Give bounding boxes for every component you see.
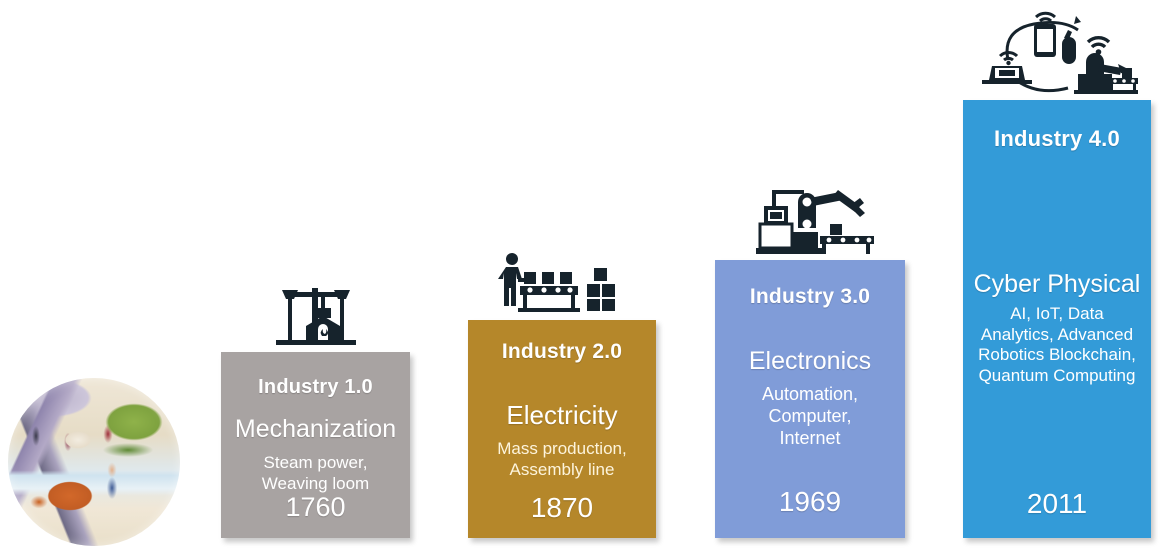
agrarian-village-illustration (8, 378, 180, 546)
stage-detail: AI, IoT, DataAnalytics, AdvancedRobotics… (978, 304, 1136, 387)
infographic-canvas: Industry 1.0 Mechanization Steam power,W… (0, 0, 1170, 550)
industry-stage-bar-3: Industry 3.0 Electronics Automation,Comp… (715, 260, 905, 538)
stage-year: 1870 (468, 492, 656, 524)
stage-version-label: Industry 2.0 (502, 340, 622, 364)
stage-headline: Mechanization (235, 415, 396, 444)
stage-headline: Electricity (506, 400, 617, 431)
stage-detail: Mass production,Assembly line (497, 439, 626, 480)
industry-stage-bar-1: Industry 1.0 Mechanization Steam power,W… (221, 352, 410, 538)
steam-engine-icon (268, 282, 364, 354)
stage-year: 1760 (221, 492, 410, 523)
industry-stage-bar-4: Industry 4.0 Cyber Physical AI, IoT, Dat… (963, 100, 1151, 538)
iot-connected-factory-icon (978, 8, 1142, 98)
stage-headline: Electronics (749, 347, 871, 376)
stage-version-label: Industry 3.0 (750, 285, 870, 309)
stage-version-label: Industry 4.0 (994, 126, 1120, 152)
robotic-arm-conveyor-icon (752, 186, 876, 258)
assembly-line-worker-icon (496, 250, 620, 316)
stage-detail: Automation,Computer,Internet (762, 384, 858, 450)
stage-year: 1969 (715, 486, 905, 518)
stage-headline: Cyber Physical (974, 270, 1141, 299)
stage-detail: Steam power,Weaving loom (262, 453, 369, 494)
industry-stage-bar-2: Industry 2.0 Electricity Mass production… (468, 320, 656, 538)
stage-year: 2011 (963, 488, 1151, 520)
stage-version-label: Industry 1.0 (258, 376, 373, 399)
